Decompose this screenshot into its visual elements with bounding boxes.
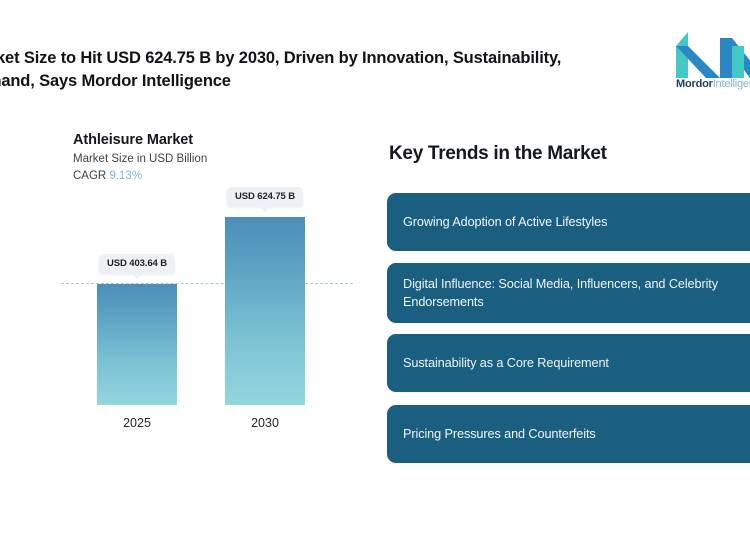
bar-value-label-2030: USD 624.75 B: [227, 187, 303, 207]
trend-card[interactable]: Growing Adoption of Active Lifestyles: [387, 193, 750, 251]
cagr-label: CAGR: [73, 170, 106, 182]
mordor-m-icon: [676, 32, 750, 78]
x-axis-label-2030: 2030: [225, 416, 305, 430]
trend-card[interactable]: Digital Influence: Social Media, Influen…: [387, 263, 750, 323]
chart-panel: Athleisure Market Market Size in USD Bil…: [0, 120, 370, 480]
headline-line-1: isure Market Size to Hit USD 624.75 B by…: [0, 49, 561, 67]
trend-card[interactable]: Pricing Pressures and Counterfeits: [387, 405, 750, 463]
trend-card-label: Growing Adoption of Active Lifestyles: [403, 213, 607, 231]
trend-card-label: Sustainability as a Core Requirement: [403, 354, 609, 372]
chart-cagr: CAGR 9.13%: [73, 170, 142, 182]
cagr-value: 9.13%: [109, 170, 142, 182]
chart-subtitle: Market Size in USD Billion: [73, 153, 207, 165]
bar-2025[interactable]: [97, 284, 177, 405]
bar-value-label-2025: USD 403.64 B: [99, 254, 175, 274]
page-title: isure Market Size to Hit USD 624.75 B by…: [0, 47, 664, 94]
infographic-canvas: isure Market Size to Hit USD 624.75 B by…: [0, 0, 750, 536]
brand-logo: MordorIntelligence: [676, 32, 750, 104]
brand-name-bold: Mordor: [676, 78, 713, 90]
x-axis-label-2025: 2025: [97, 416, 177, 430]
brand-name-light: Intelligence: [713, 78, 750, 90]
headline-line-2: igital Demand, Says Mordor Intelligence: [0, 72, 231, 90]
chart-plot-area: USD 403.64 B2025USD 624.75 B2030: [73, 195, 338, 450]
trend-card[interactable]: Sustainability as a Core Requirement: [387, 334, 750, 392]
brand-wordmark: MordorIntelligence: [676, 78, 750, 90]
trend-card-label: Digital Influence: Social Media, Influen…: [403, 275, 750, 311]
trend-card-label: Pricing Pressures and Counterfeits: [403, 425, 596, 443]
key-trends-title: Key Trends in the Market: [389, 143, 607, 165]
bar-2030[interactable]: [225, 217, 305, 405]
chart-title: Athleisure Market: [73, 132, 193, 148]
